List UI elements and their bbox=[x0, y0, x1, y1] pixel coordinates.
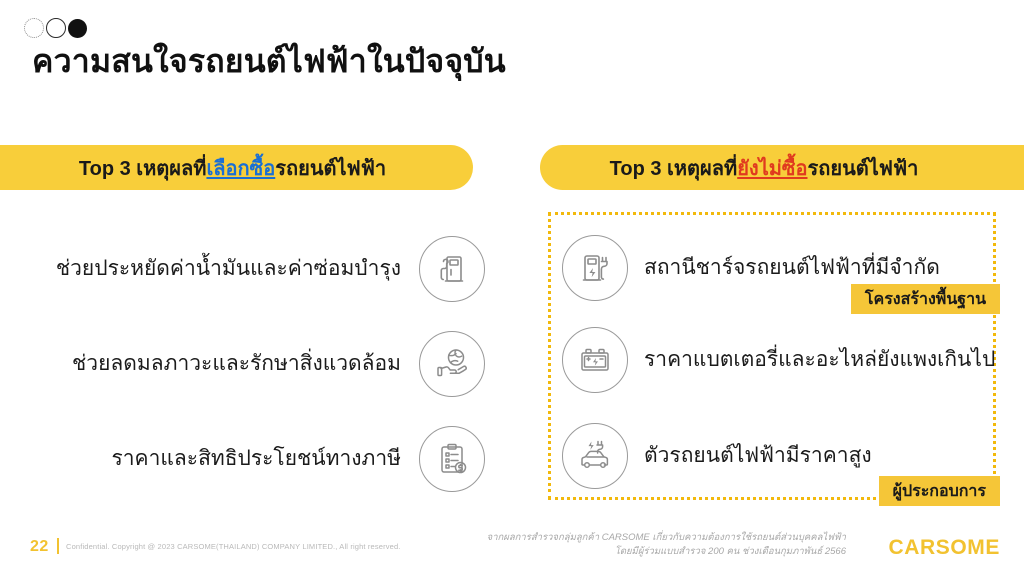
page-number: 22 bbox=[30, 538, 49, 556]
banner-reasons-to-buy: Top 3 เหตุผลที่เลือกซื้อรถยนต์ไฟฟ้า bbox=[0, 145, 473, 190]
status-badge-operators: ผู้ประกอบการ bbox=[879, 476, 1000, 506]
list-item: ช่วยประหยัดค่าน้ำมันและค่าซ่อมบำรุง bbox=[30, 230, 485, 308]
survey-source-note-line1: จากผลการสำรวจกลุ่มลูกค้า CARSOME เกี่ยวก… bbox=[487, 531, 846, 545]
banner-left-suffix: รถยนต์ไฟฟ้า bbox=[275, 152, 386, 184]
list-item: ช่วยลดมลภาวะและรักษาสิ่งแวดล้อม bbox=[30, 325, 485, 403]
left-reasons-list: ช่วยประหยัดค่าน้ำมันและค่าซ่อมบำรุง ช่วย… bbox=[0, 218, 500, 508]
right-item-2-label: ราคาแบตเตอรี่และอะไหล่ยังแพงเกินไป bbox=[644, 346, 995, 374]
left-item-2-label: ช่วยลดมลภาวะและรักษาสิ่งแวดล้อม bbox=[72, 350, 401, 378]
right-item-1-label: สถานีชาร์จรถยนต์ไฟฟ้าที่มีจำกัด bbox=[644, 254, 940, 282]
left-item-1-label: ช่วยประหยัดค่าน้ำมันและค่าซ่อมบำรุง bbox=[56, 255, 401, 283]
copyright-text: Confidential. Copyright @ 2023 CARSOME(T… bbox=[66, 542, 401, 551]
ev-charging-station-icon bbox=[562, 235, 628, 301]
list-item: ราคาและสิทธิประโยชน์ทางภาษี bbox=[30, 420, 485, 498]
hand-holding-globe-icon bbox=[419, 331, 485, 397]
right-reasons-list: สถานีชาร์จรถยนต์ไฟฟ้าที่มีจำกัด ราคาแบตเ… bbox=[548, 212, 1024, 512]
banner-right-suffix: รถยนต์ไฟฟ้า bbox=[808, 152, 919, 184]
filled-circle-icon bbox=[68, 19, 87, 38]
clipboard-dollar-icon bbox=[419, 426, 485, 492]
banner-reasons-not-to-buy: Top 3 เหตุผลที่ยังไม่ซื้อรถยนต์ไฟฟ้า bbox=[540, 145, 1024, 190]
right-item-3-label: ตัวรถยนต์ไฟฟ้ามีราคาสูง bbox=[644, 442, 872, 470]
banner-left-highlight: เลือกซื้อ bbox=[206, 152, 275, 184]
survey-source-note-line2: โดยมีผู้ร่วมแบบสำรวจ 200 คน ช่วงเดือนกุม… bbox=[487, 545, 846, 559]
list-item: ราคาแบตเตอรี่และอะไหล่ยังแพงเกินไป bbox=[562, 324, 995, 396]
carsome-logo: CARSOME bbox=[888, 536, 1000, 560]
decorative-dots bbox=[24, 18, 87, 38]
banner-left-prefix: Top 3 เหตุผลที่ bbox=[79, 152, 207, 184]
dotted-circle-icon bbox=[24, 18, 44, 38]
fuel-pump-icon bbox=[419, 236, 485, 302]
left-item-3-label: ราคาและสิทธิประโยชน์ทางภาษี bbox=[111, 445, 401, 473]
list-item: ตัวรถยนต์ไฟฟ้ามีราคาสูง bbox=[562, 420, 872, 492]
status-badge-infrastructure: โครงสร้างพื้นฐาน bbox=[851, 284, 1000, 314]
car-battery-icon bbox=[562, 327, 628, 393]
outline-circle-icon bbox=[46, 18, 66, 38]
slide-canvas: ความสนใจรถยนต์ไฟฟ้าในปัจจุบัน Top 3 เหตุ… bbox=[0, 0, 1024, 576]
survey-source-note: จากผลการสำรวจกลุ่มลูกค้า CARSOME เกี่ยวก… bbox=[487, 531, 846, 560]
footer-divider bbox=[57, 538, 59, 554]
electric-car-icon bbox=[562, 423, 628, 489]
page-title: ความสนใจรถยนต์ไฟฟ้าในปัจจุบัน bbox=[32, 41, 506, 81]
banner-right-prefix: Top 3 เหตุผลที่ bbox=[610, 152, 738, 184]
banner-right-highlight: ยังไม่ซื้อ bbox=[737, 152, 807, 184]
